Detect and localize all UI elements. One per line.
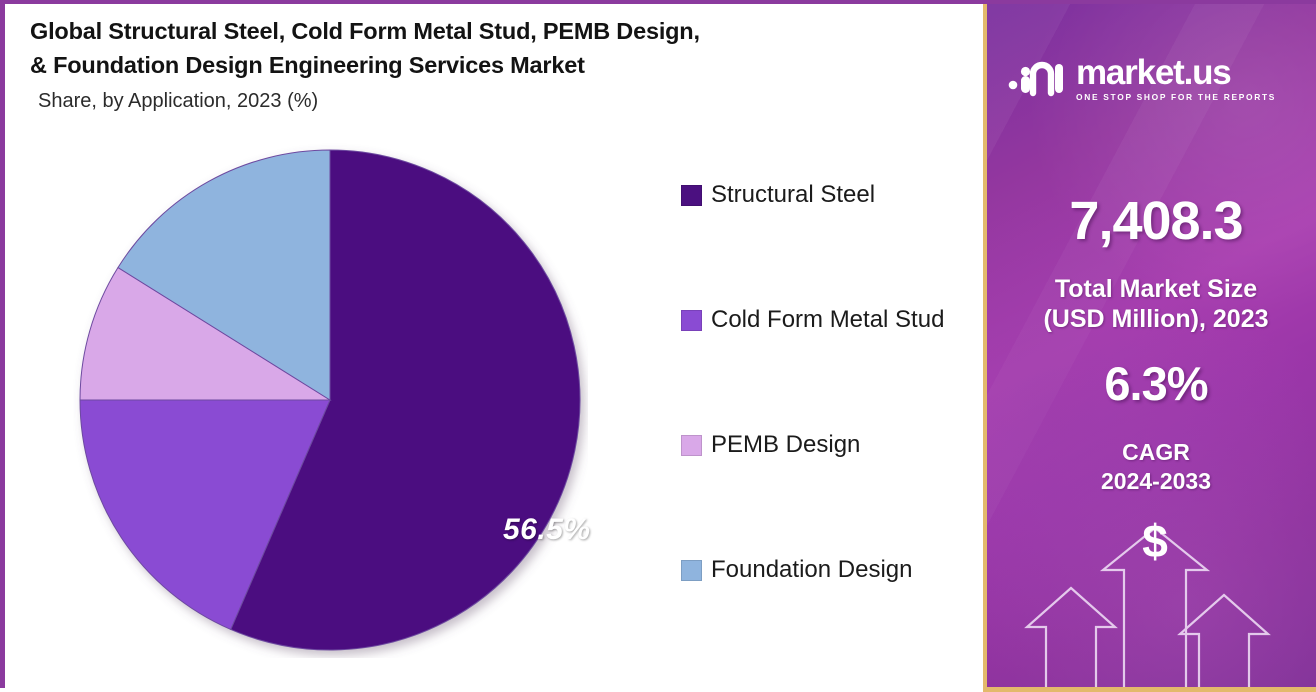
- legend-item-pemb-design[interactable]: PEMB Design: [681, 432, 981, 458]
- infographic-frame: Global Structural Steel, Cold Form Metal…: [0, 0, 1316, 688]
- cagr-label: CAGR 2024-2033: [987, 438, 1316, 496]
- market-us-logo-icon: [1005, 52, 1067, 105]
- cagr-value: 6.3%: [987, 356, 1316, 411]
- page-title-line-2: & Foundation Design Engineering Services…: [30, 48, 930, 82]
- legend-swatch-pemb-design: [681, 435, 702, 456]
- growth-arrows-graphic: $: [987, 522, 1316, 687]
- market-size-label: Total Market Size (USD Million), 2023: [987, 274, 1316, 334]
- legend-label-foundation-design: Foundation Design: [711, 557, 912, 583]
- legend-item-cold-form-metal-stud[interactable]: Cold Form Metal Stud: [681, 307, 981, 333]
- title-block: Global Structural Steel, Cold Form Metal…: [30, 14, 930, 116]
- chart-panel: Global Structural Steel, Cold Form Metal…: [5, 4, 983, 688]
- market-size-value: 7,408.3: [987, 190, 1316, 252]
- pie-slice-data-label: 56.5%: [503, 513, 591, 547]
- market-size-label-line-2: (USD Million), 2023: [987, 304, 1316, 334]
- legend-item-foundation-design[interactable]: Foundation Design: [681, 557, 981, 583]
- legend-label-pemb-design: PEMB Design: [711, 432, 860, 458]
- cagr-label-line-1: CAGR: [987, 438, 1316, 467]
- page-title-line-1: Global Structural Steel, Cold Form Metal…: [30, 14, 930, 48]
- chart-legend: Structural Steel Cold Form Metal Stud PE…: [681, 182, 981, 583]
- chart-subtitle: Share, by Application, 2023 (%): [38, 86, 930, 116]
- arrow-up-left-icon: [1027, 588, 1115, 687]
- legend-swatch-structural-steel: [681, 185, 702, 206]
- brand-text: market.us ONE STOP SHOP FOR THE REPORTS: [1076, 55, 1276, 103]
- legend-swatch-foundation-design: [681, 560, 702, 581]
- legend-label-structural-steel: Structural Steel: [711, 182, 875, 208]
- brand-tagline: ONE STOP SHOP FOR THE REPORTS: [1076, 91, 1276, 103]
- pie-chart-svg: [73, 143, 588, 658]
- legend-swatch-cold-form-metal-stud: [681, 310, 702, 331]
- stats-panel: market.us ONE STOP SHOP FOR THE REPORTS …: [983, 4, 1316, 692]
- cagr-label-line-2: 2024-2033: [987, 467, 1316, 496]
- legend-label-cold-form-metal-stud: Cold Form Metal Stud: [711, 307, 944, 333]
- brand-logo[interactable]: market.us ONE STOP SHOP FOR THE REPORTS: [1005, 52, 1305, 105]
- pie-chart: 56.5%: [73, 143, 588, 658]
- pie-slices: [80, 150, 580, 650]
- legend-item-structural-steel[interactable]: Structural Steel: [681, 182, 981, 208]
- market-size-label-line-1: Total Market Size: [987, 274, 1316, 304]
- brand-name: market.us: [1076, 55, 1276, 90]
- arrow-up-right-icon: [1180, 595, 1268, 687]
- dollar-sign-icon: $: [1142, 522, 1168, 567]
